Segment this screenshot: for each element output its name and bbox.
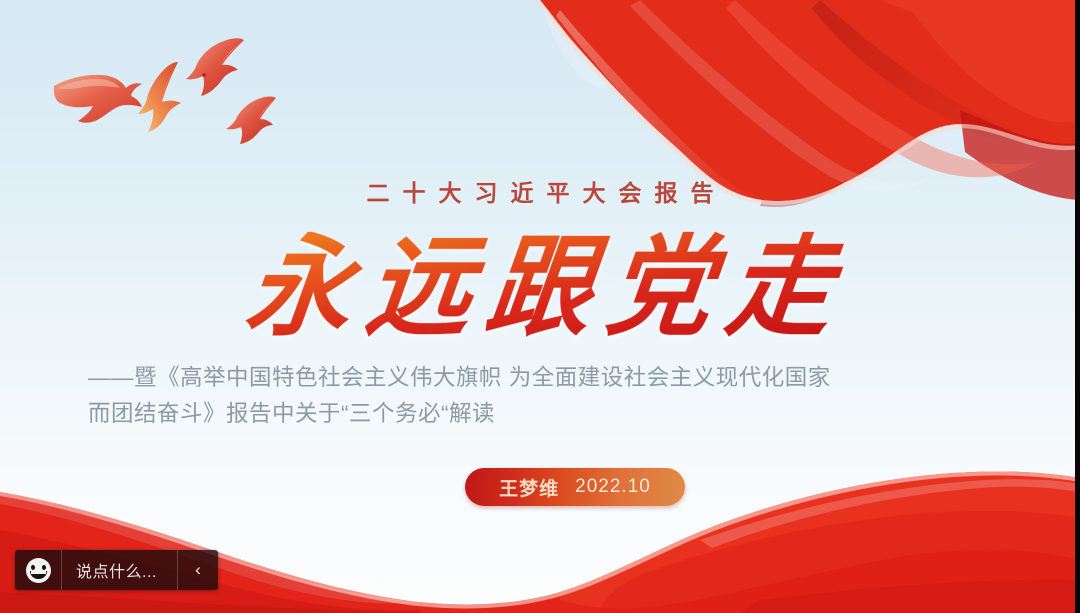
- emoji-picker-button[interactable]: [15, 550, 62, 590]
- collapse-chevron-left-icon[interactable]: ‹: [178, 550, 218, 590]
- dove-icon: [138, 62, 181, 132]
- comment-input[interactable]: 说点什么...: [62, 550, 178, 590]
- emoji-eye-left: [31, 565, 35, 570]
- author-name: 王梦维: [499, 474, 559, 501]
- subtitle-line-1: ——暨《高举中国特色社会主义伟大旗帜 为全面建设社会主义现代化国家: [88, 365, 831, 390]
- comment-bar[interactable]: 说点什么... ‹: [15, 550, 218, 590]
- headline-container: 永远跟党走: [0, 226, 1080, 348]
- author-date-badge: 王梦维 2022.10: [465, 468, 685, 506]
- grinning-face-icon: [26, 558, 51, 583]
- poster-canvas: 二十大习近平大会报告 永远跟党走 ——暨《高举中国特色社会主义伟大旗帜 为全面建…: [0, 0, 1080, 613]
- dove-icon: [54, 75, 142, 123]
- dove-icon: [226, 97, 276, 145]
- page-title: 永远跟党走: [225, 232, 855, 342]
- emoji-eye-right: [42, 565, 46, 570]
- flying-doves-decoration: [34, 24, 314, 156]
- dove-icon: [186, 38, 244, 96]
- emoji-teeth: [31, 571, 46, 574]
- subtitle-block: ——暨《高举中国特色社会主义伟大旗帜 为全面建设社会主义现代化国家 而团结奋斗》…: [88, 360, 998, 432]
- subtitle-line-2: 而团结奋斗》报告中关于“三个务必“解读: [88, 396, 998, 432]
- author-date: 2022.10: [575, 476, 651, 498]
- eyebrow-title: 二十大习近平大会报告: [0, 174, 1080, 208]
- right-border-strip: [1075, 0, 1080, 613]
